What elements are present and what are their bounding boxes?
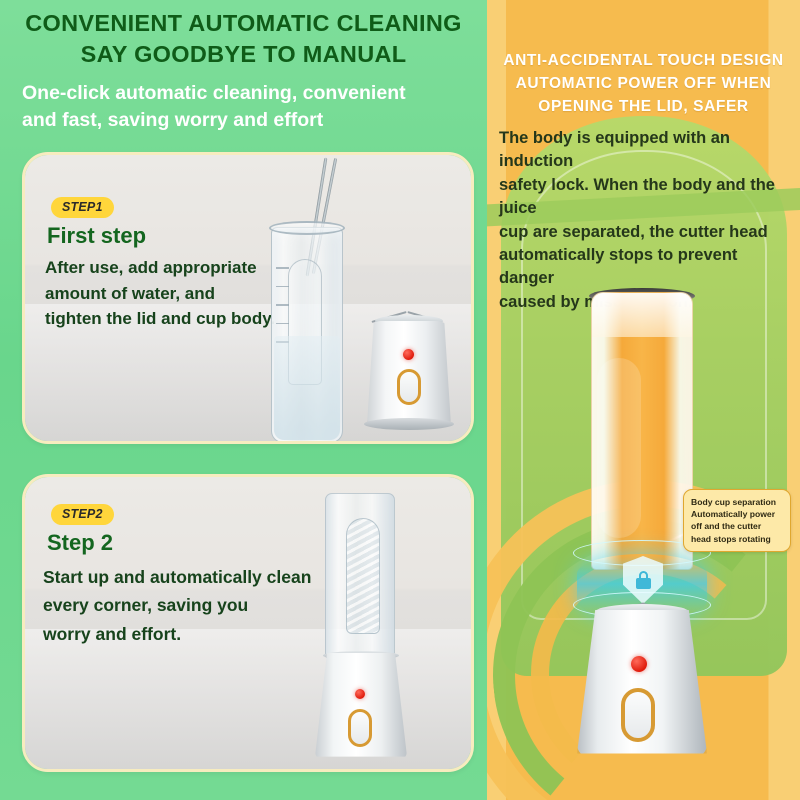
card-1-content: STEP1 First step After use, add appropri… xyxy=(25,155,471,441)
right-headline-line-3: OPENING THE LID, SAFER xyxy=(495,96,792,119)
juice-cup-highlight xyxy=(597,358,641,538)
step-1-body: After use, add appropriate amount of wat… xyxy=(45,255,305,332)
cup-body-assembled xyxy=(325,493,395,659)
right-body-paragraph: The body is equipped with an induction s… xyxy=(487,119,800,314)
step-2-body: Start up and automatically clean every c… xyxy=(43,563,313,648)
left-headline-block: CONVENIENT AUTOMATIC CLEANING SAY GOODBY… xyxy=(0,0,487,135)
step-card-2: STEP2 Step 2 Start up and automatically … xyxy=(22,474,474,772)
cup-water xyxy=(274,336,340,440)
step-2-title: Step 2 xyxy=(47,530,113,556)
assembled-blender-image xyxy=(315,493,407,761)
left-headline-line-2: SAY GOODBYE TO MANUAL xyxy=(10,39,477,70)
power-led-indicator-2 xyxy=(355,689,365,699)
power-button-icon-2 xyxy=(348,709,372,747)
step-card-1: STEP1 First step After use, add appropri… xyxy=(22,152,474,444)
power-button-icon xyxy=(397,369,421,405)
power-led-indicator xyxy=(403,349,414,360)
padlock-icon xyxy=(636,571,651,589)
water-swirl-effect xyxy=(346,518,380,634)
card-2-content: STEP2 Step 2 Start up and automatically … xyxy=(25,477,471,769)
glass-juice-cup-image xyxy=(271,205,343,443)
step-1-title: First step xyxy=(47,223,146,249)
base-bottom-ring xyxy=(364,418,454,430)
right-headline-block: ANTI-ACCIDENTAL TOUCH DESIGN AUTOMATIC P… xyxy=(487,0,800,119)
right-headline-line-2: AUTOMATIC POWER OFF WHEN xyxy=(495,73,792,96)
step-2-badge: STEP2 xyxy=(51,504,114,525)
juice-cup-headspace xyxy=(592,293,692,337)
power-led-indicator-3 xyxy=(631,656,647,672)
blender-motor-base-image xyxy=(363,307,455,429)
power-button-icon-3 xyxy=(621,688,655,742)
left-panel-auto-cleaning: CONVENIENT AUTOMATIC CLEANING SAY GOODBY… xyxy=(0,0,487,800)
right-headline-line-1: ANTI-ACCIDENTAL TOUCH DESIGN xyxy=(495,50,792,73)
separation-callout-box: Body cup separation Automatically power … xyxy=(683,489,791,552)
step-1-badge: STEP1 xyxy=(51,197,114,218)
cup-rim xyxy=(269,221,345,235)
left-headline-line-1: CONVENIENT AUTOMATIC CLEANING xyxy=(10,8,477,39)
right-panel-safety-lock: ANTI-ACCIDENTAL TOUCH DESIGN AUTOMATIC P… xyxy=(487,0,800,800)
left-subheadline: One-click automatic cleaning, convenient… xyxy=(10,80,477,135)
infographic-page: CONVENIENT AUTOMATIC CLEANING SAY GOODBY… xyxy=(0,0,800,800)
